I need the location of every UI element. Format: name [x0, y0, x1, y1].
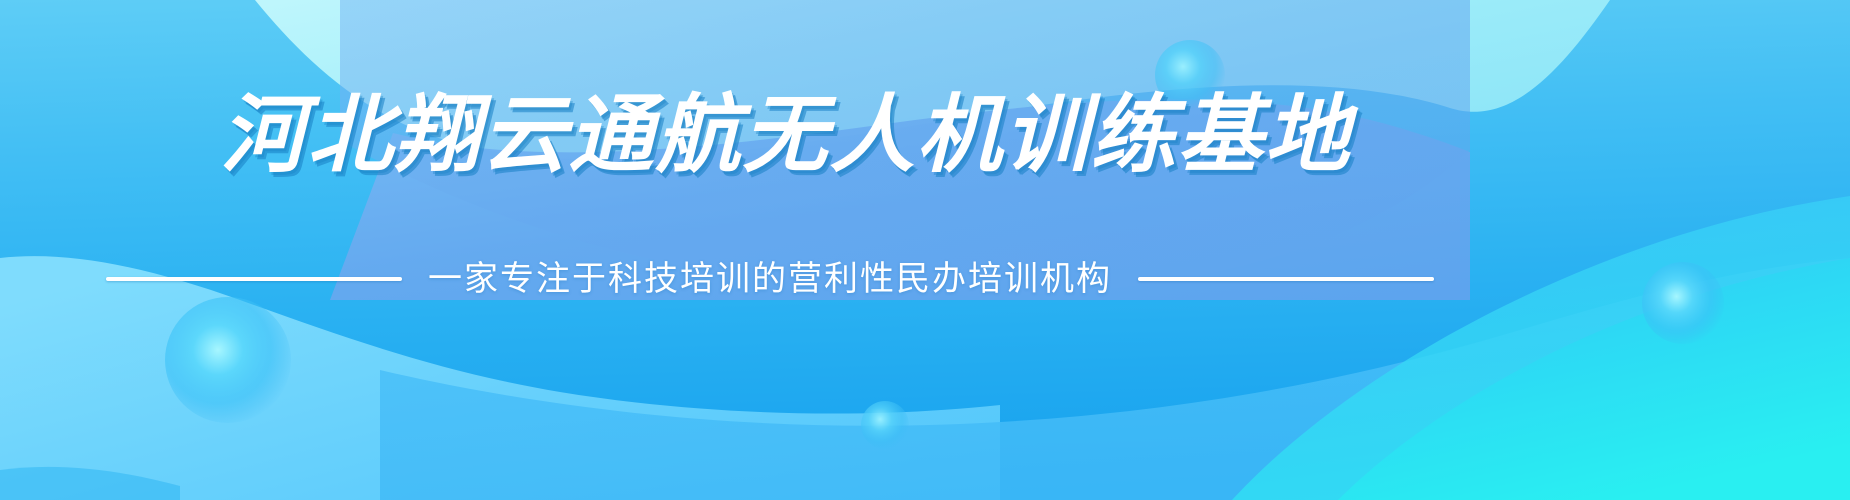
- hero-banner: 河北翔云通航无人机训练基地 一家专注于科技培训的营利性民办培训机构: [0, 0, 1850, 500]
- subtitle-rule-right: [1138, 277, 1434, 281]
- banner-title: 河北翔云通航无人机训练基地: [0, 86, 1850, 186]
- banner-subtitle-row: 一家专注于科技培训的营利性民办培训机构: [0, 255, 1850, 303]
- subtitle-rule-left: [106, 277, 402, 281]
- banner-content: 河北翔云通航无人机训练基地 一家专注于科技培训的营利性民办培训机构: [0, 0, 1850, 500]
- banner-subtitle: 一家专注于科技培训的营利性民办培训机构: [428, 255, 1112, 303]
